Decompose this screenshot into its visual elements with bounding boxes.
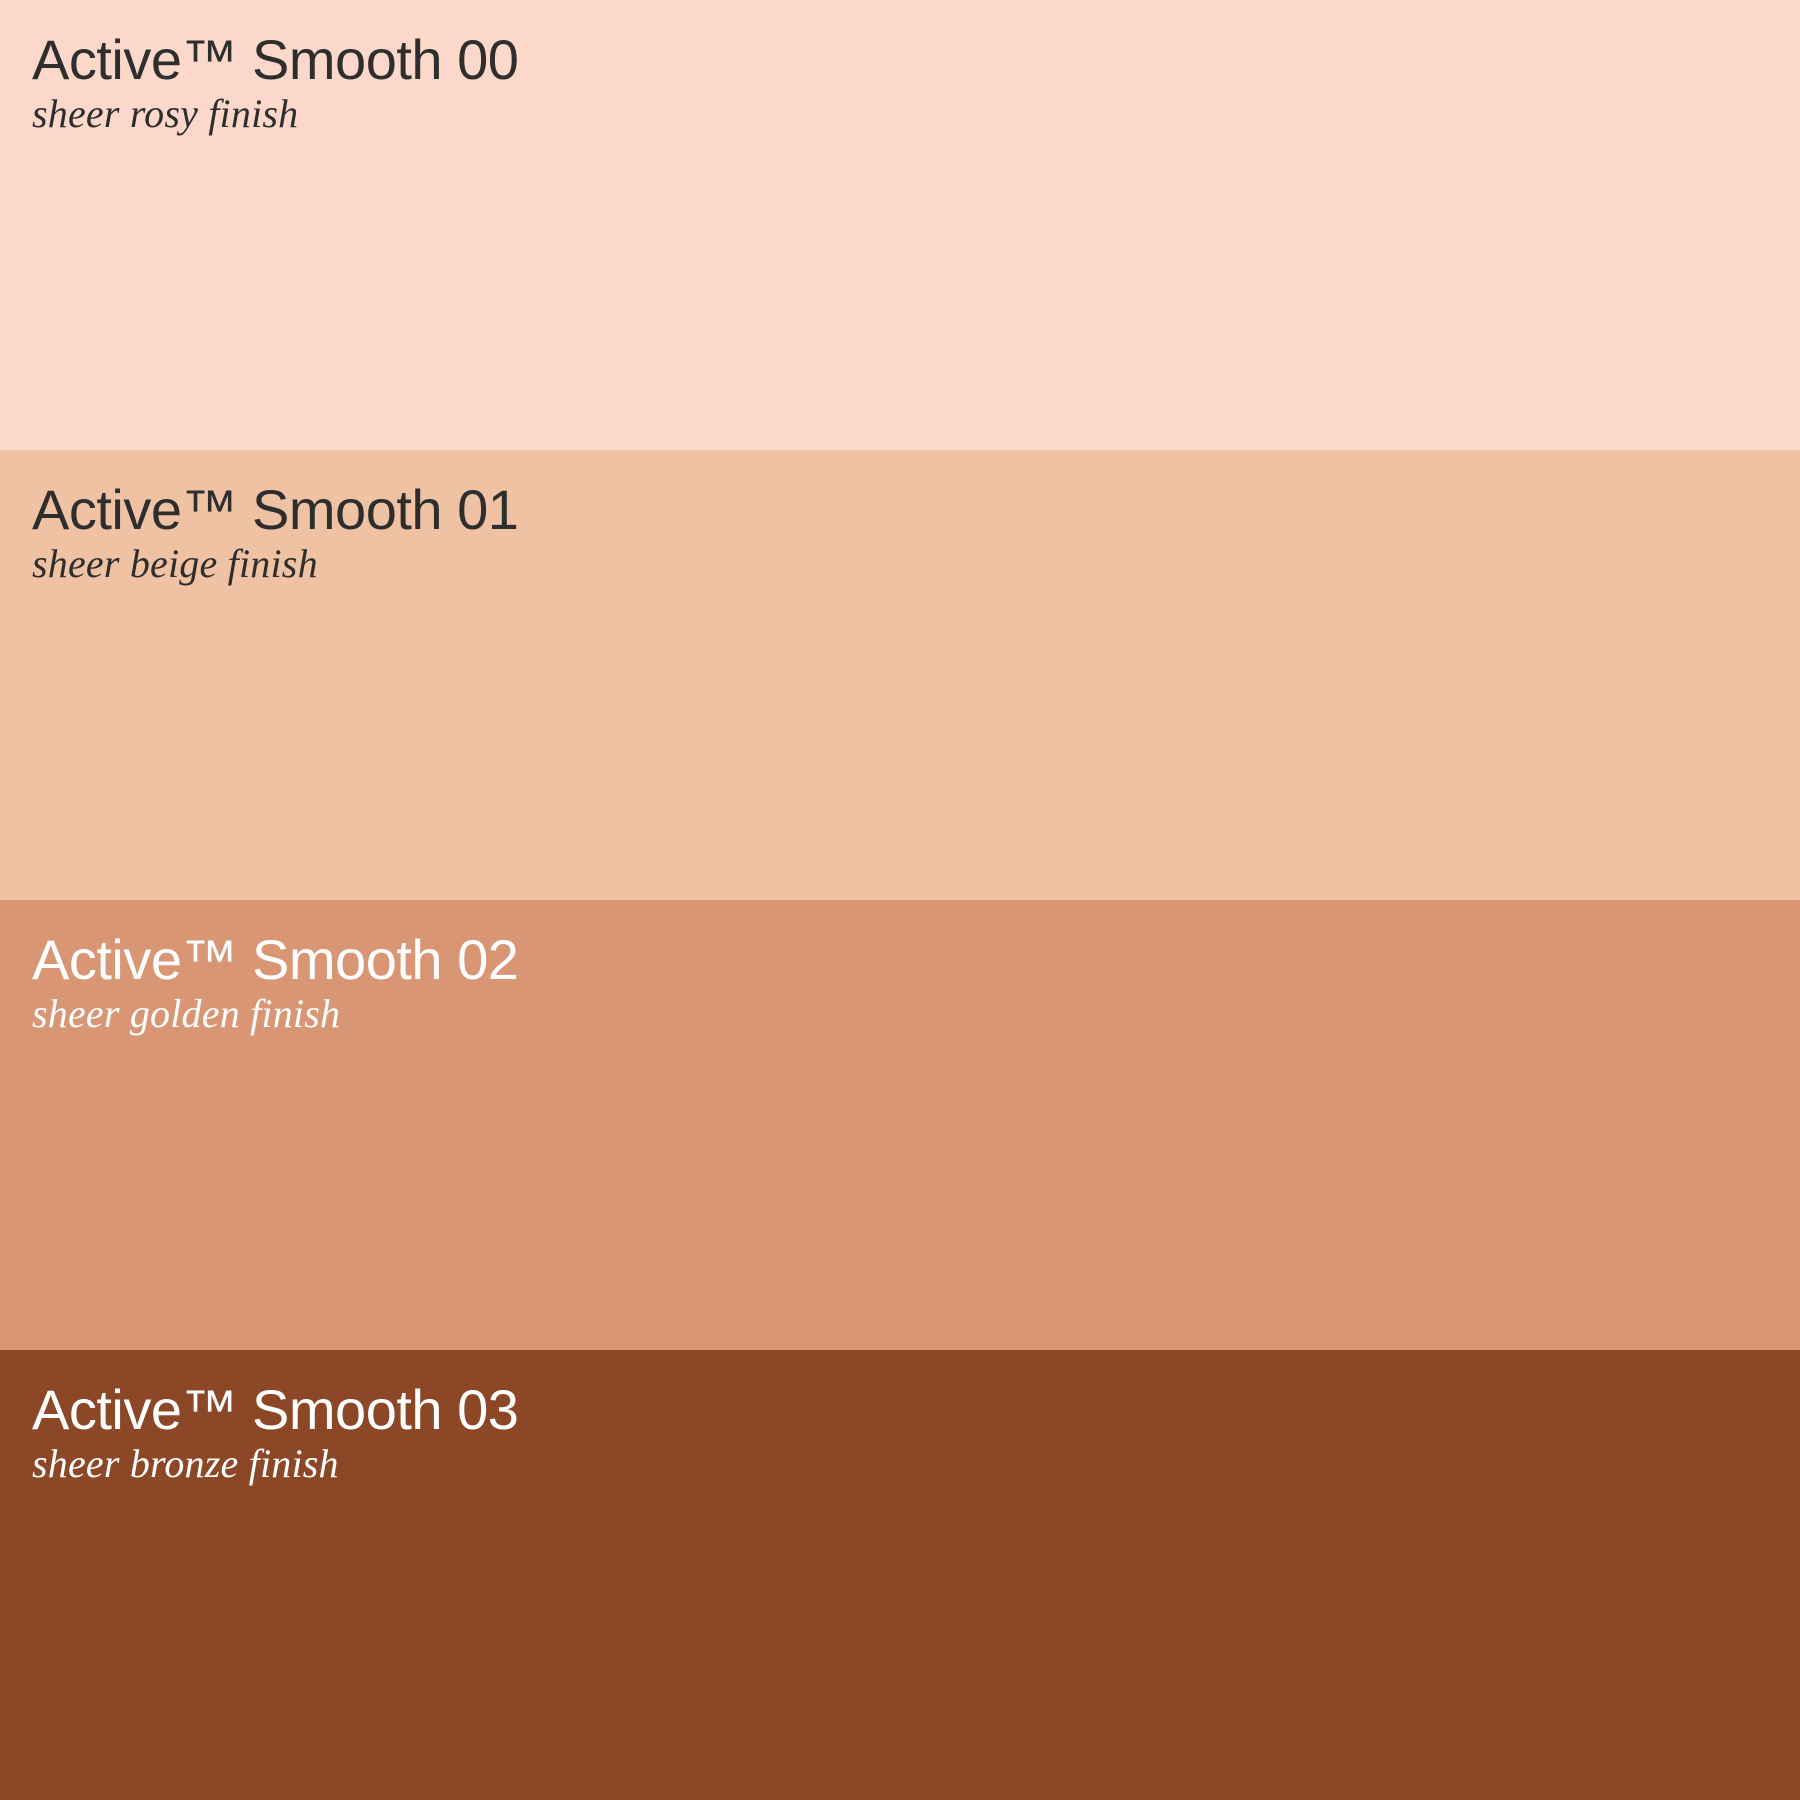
swatch-title: Active™ Smooth 02 xyxy=(32,930,1032,990)
swatch-band[interactable]: Active™ Smooth 02 sheer golden finish xyxy=(0,900,1800,1350)
swatch-label-group: Active™ Smooth 03 sheer bronze finish xyxy=(32,1380,1032,1489)
swatch-label-group: Active™ Smooth 01 sheer beige finish xyxy=(32,480,1032,589)
swatch-subtitle: sheer golden finish xyxy=(32,990,1032,1039)
swatch-subtitle: sheer bronze finish xyxy=(32,1440,1032,1489)
swatch-label-group: Active™ Smooth 00 sheer rosy finish xyxy=(32,30,1032,139)
swatch-stack: Active™ Smooth 00 sheer rosy finish Acti… xyxy=(0,0,1800,1800)
swatch-band[interactable]: Active™ Smooth 00 sheer rosy finish xyxy=(0,0,1800,450)
swatch-subtitle: sheer beige finish xyxy=(32,540,1032,589)
swatch-label-group: Active™ Smooth 02 sheer golden finish xyxy=(32,930,1032,1039)
swatch-subtitle: sheer rosy finish xyxy=(32,90,1032,139)
swatch-title: Active™ Smooth 03 xyxy=(32,1380,1032,1440)
swatch-band[interactable]: Active™ Smooth 03 sheer bronze finish xyxy=(0,1350,1800,1800)
swatch-title: Active™ Smooth 01 xyxy=(32,480,1032,540)
swatch-title: Active™ Smooth 00 xyxy=(32,30,1032,90)
swatch-band[interactable]: Active™ Smooth 01 sheer beige finish xyxy=(0,450,1800,900)
